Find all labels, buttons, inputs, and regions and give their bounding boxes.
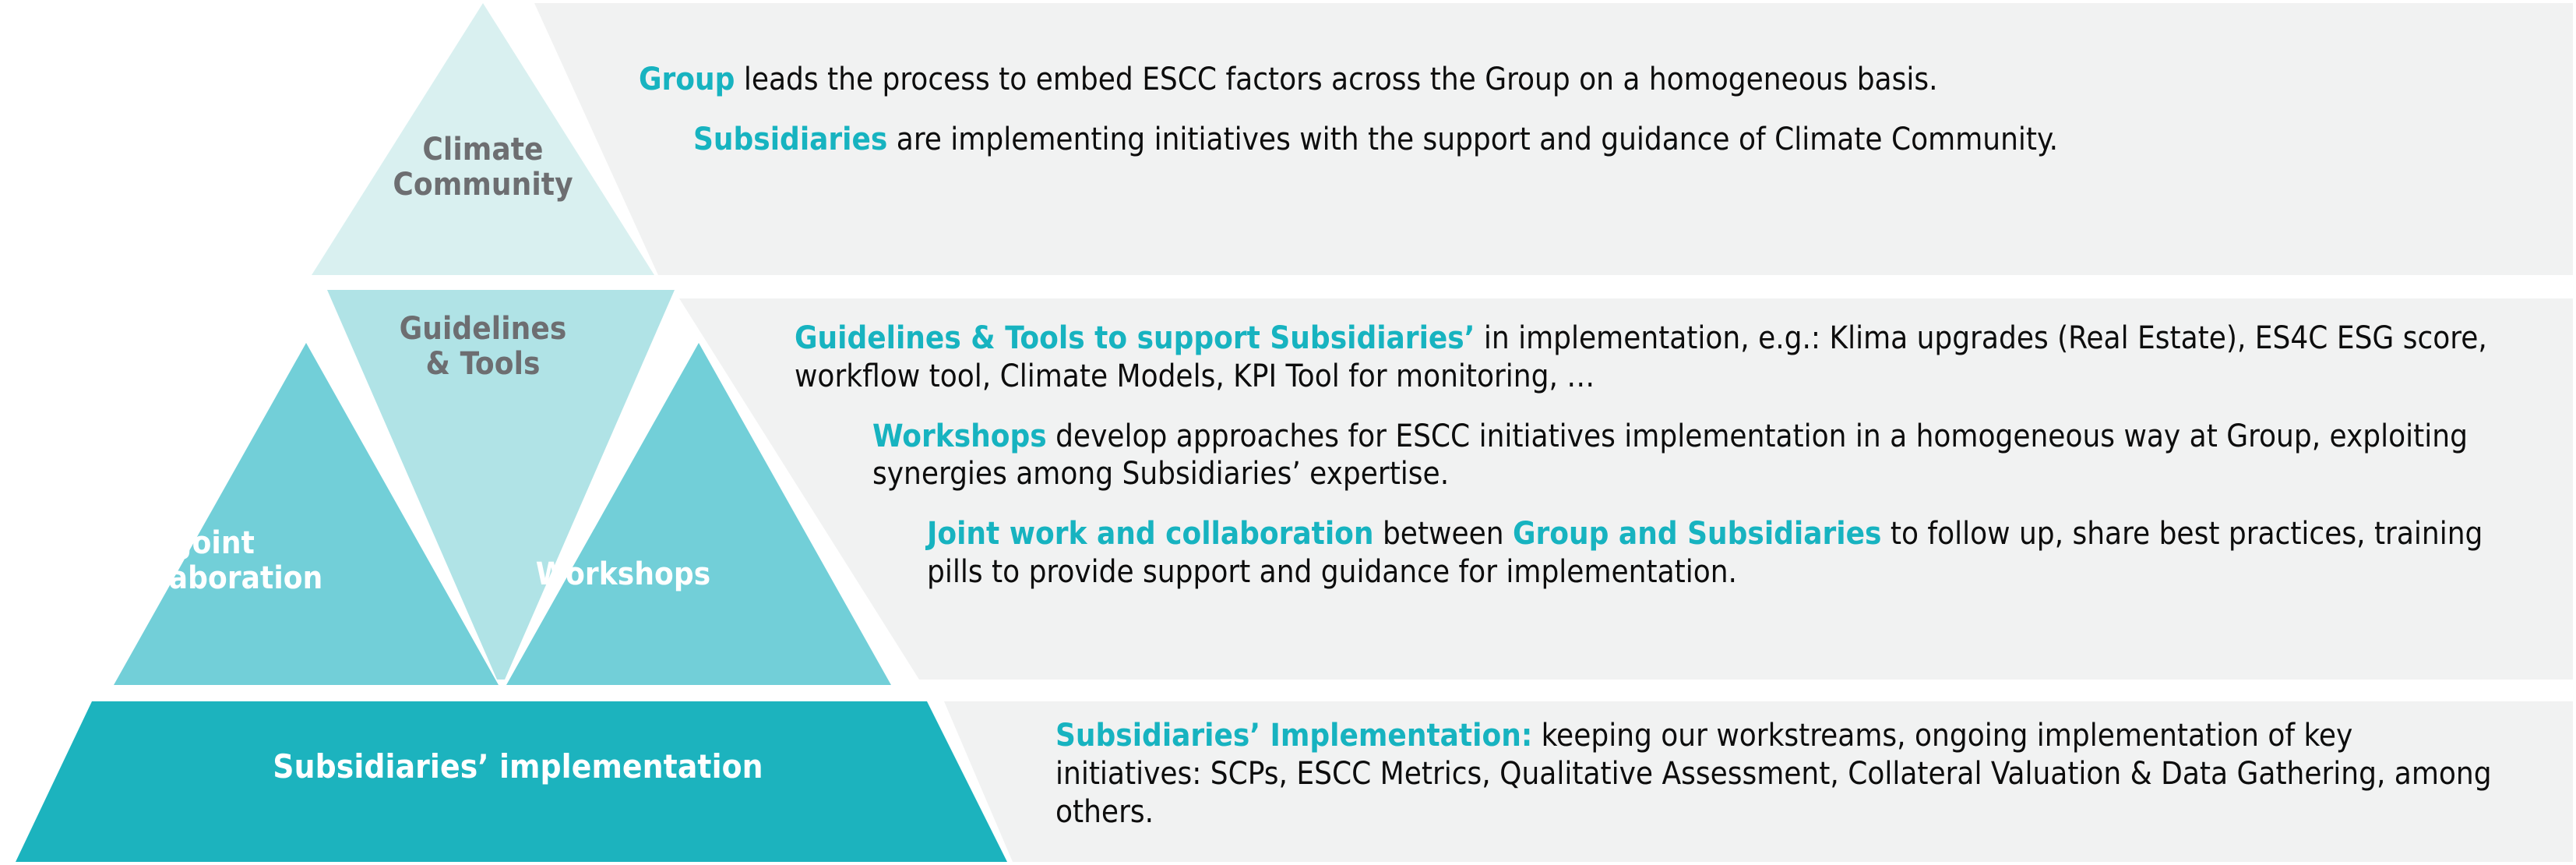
panel-paragraph: Guidelines & Tools to support Subsidiari…: [795, 320, 2493, 396]
body-text: are implementing initiatives with the su…: [887, 122, 2058, 157]
body-text: develop approaches for ESCC initiatives …: [872, 418, 2468, 493]
body-text: leads the process to embed ESCC factors …: [735, 62, 1937, 97]
description-panel-tier1: Group leads the process to embed ESCC fa…: [639, 61, 2508, 159]
panel-paragraph: Subsidiaries are implementing initiative…: [693, 121, 2508, 159]
highlighted-term: Group and Subsidiaries: [1513, 516, 1881, 552]
panel-paragraph: Subsidiaries’ Implementation: keeping ou…: [1055, 717, 2504, 831]
tier3-base-trapezoid: [16, 701, 1007, 862]
panel-paragraph: Joint work and collaboration between Gro…: [927, 515, 2493, 591]
highlighted-term: Subsidiaries’ Implementation:: [1055, 718, 1532, 754]
description-panel-tier3: Subsidiaries’ Implementation: keeping ou…: [1055, 717, 2504, 831]
body-text: between: [1374, 516, 1514, 552]
highlighted-term: Group: [639, 62, 735, 97]
panel-paragraph: Group leads the process to embed ESCC fa…: [639, 61, 2508, 99]
highlighted-term: Subsidiaries: [693, 122, 887, 157]
panel-paragraph: Workshops develop approaches for ESCC in…: [872, 418, 2493, 494]
highlighted-term: Guidelines & Tools to support Subsidiari…: [795, 320, 1475, 356]
highlighted-term: Workshops: [872, 418, 1047, 454]
highlighted-term: Joint work and collaboration: [927, 516, 1374, 552]
description-panel-tier2: Guidelines & Tools to support Subsidiari…: [795, 320, 2493, 591]
diagram-canvas: Climate Community Guidelines & Tools Joi…: [0, 0, 2576, 865]
